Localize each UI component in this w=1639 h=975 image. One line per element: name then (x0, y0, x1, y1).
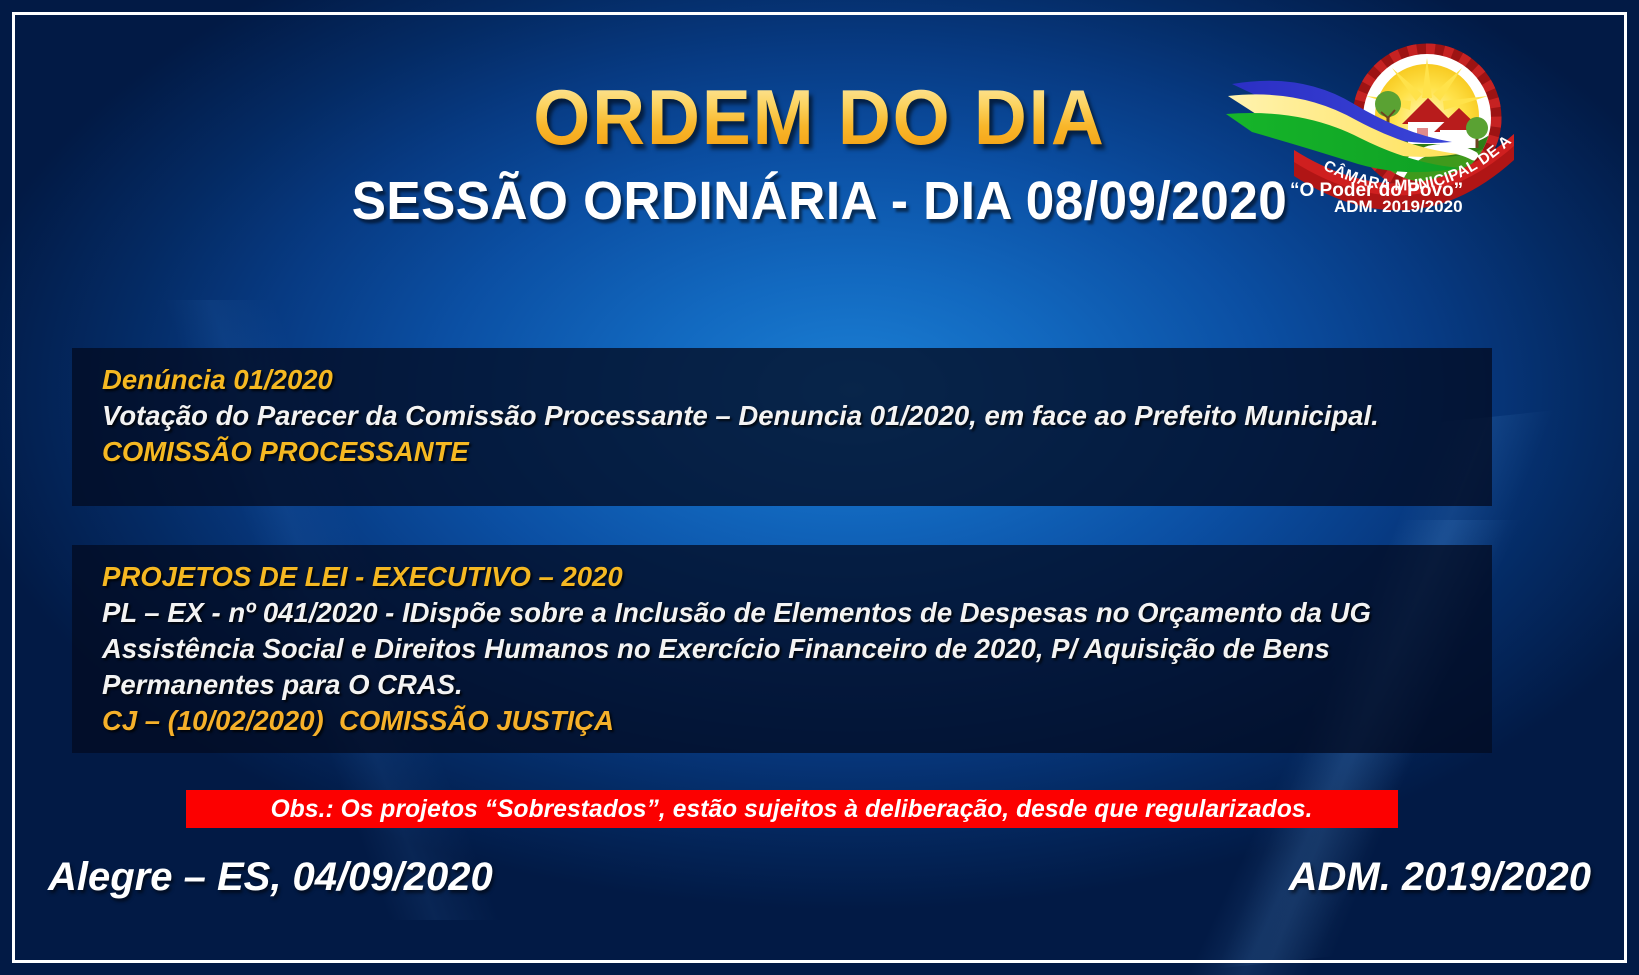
agenda-item-2: PROJETOS DE LEI - EXECUTIVO – 2020 PL – … (72, 545, 1492, 753)
agenda-item-2-committee: CJ – (10/02/2020) COMISSÃO JUSTIÇA (102, 703, 1462, 739)
slide-canvas: CÂMARA MUNICIPAL DE ALEGRE - ES “O Poder… (0, 0, 1639, 975)
agenda-item-1: Denúncia 01/2020 Votação do Parecer da C… (72, 348, 1492, 506)
slide-header: ORDEM DO DIA SESSÃO ORDINÁRIA - DIA 08/0… (0, 78, 1639, 232)
agenda-item-1-body: Votação do Parecer da Comissão Processan… (102, 398, 1462, 434)
footer-administration: ADM. 2019/2020 (1289, 855, 1591, 900)
notice-banner-text: Obs.: Os projetos “Sobrestados”, estão s… (271, 795, 1313, 824)
agenda-item-1-heading: Denúncia 01/2020 (102, 362, 1462, 398)
notice-banner: Obs.: Os projetos “Sobrestados”, estão s… (186, 790, 1398, 828)
agenda-item-2-heading: PROJETOS DE LEI - EXECUTIVO – 2020 (102, 559, 1462, 595)
agenda-item-2-body: PL – EX - nº 041/2020 - IDispõe sobre a … (102, 595, 1462, 703)
page-title: ORDEM DO DIA (49, 78, 1590, 156)
agenda-item-1-committee: COMISSÃO PROCESSANTE (102, 434, 1462, 470)
footer-location-date: Alegre – ES, 04/09/2020 (48, 855, 493, 900)
page-subtitle: SESSÃO ORDINÁRIA - DIA 08/09/2020 (41, 170, 1598, 232)
